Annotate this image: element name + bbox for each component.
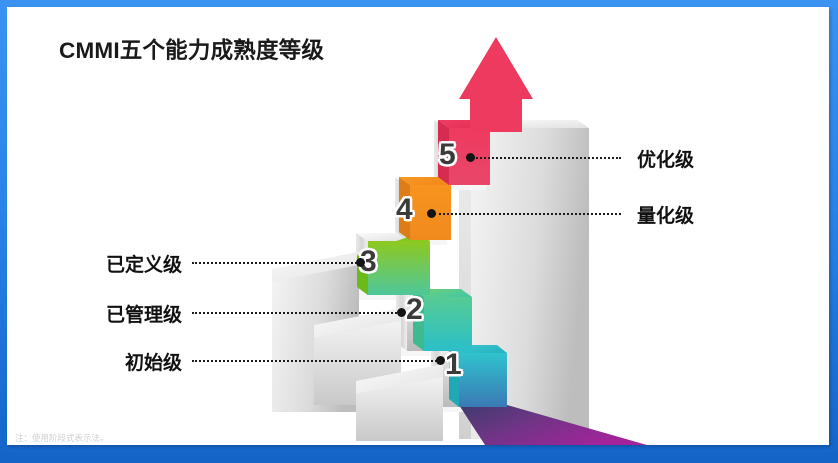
leader-line-4 bbox=[434, 213, 621, 215]
leader-line-1 bbox=[192, 360, 440, 362]
leader-dot-3 bbox=[356, 258, 365, 267]
slide-canvas: CMMI五个能力成熟度等级 bbox=[0, 0, 838, 463]
leader-line-3 bbox=[192, 262, 360, 264]
step-label-4: 量化级 bbox=[637, 201, 694, 228]
cmmi-staircase-diagram bbox=[7, 7, 829, 445]
slide-content-area: CMMI五个能力成熟度等级 bbox=[7, 7, 829, 445]
step-number-5: 5 bbox=[439, 140, 456, 170]
leader-dot-4 bbox=[427, 209, 436, 218]
up-arrow-icon bbox=[459, 37, 533, 132]
page-title: CMMI五个能力成熟度等级 bbox=[59, 33, 324, 65]
step-label-2: 已管理级 bbox=[17, 300, 182, 327]
leader-dot-5 bbox=[466, 153, 475, 162]
step-number-4: 4 bbox=[396, 195, 413, 225]
leader-dot-1 bbox=[436, 356, 445, 365]
step-label-5: 优化级 bbox=[637, 145, 694, 172]
step-number-1: 1 bbox=[445, 350, 462, 380]
step-label-3: 已定义级 bbox=[17, 250, 182, 277]
leader-line-5 bbox=[473, 157, 621, 159]
footnote-text: 注：使用阶段式表示法。 bbox=[15, 432, 109, 444]
step-number-2: 2 bbox=[406, 295, 423, 325]
step-label-1: 初始级 bbox=[17, 348, 182, 375]
leader-line-2 bbox=[192, 312, 401, 314]
leader-dot-2 bbox=[397, 308, 406, 317]
